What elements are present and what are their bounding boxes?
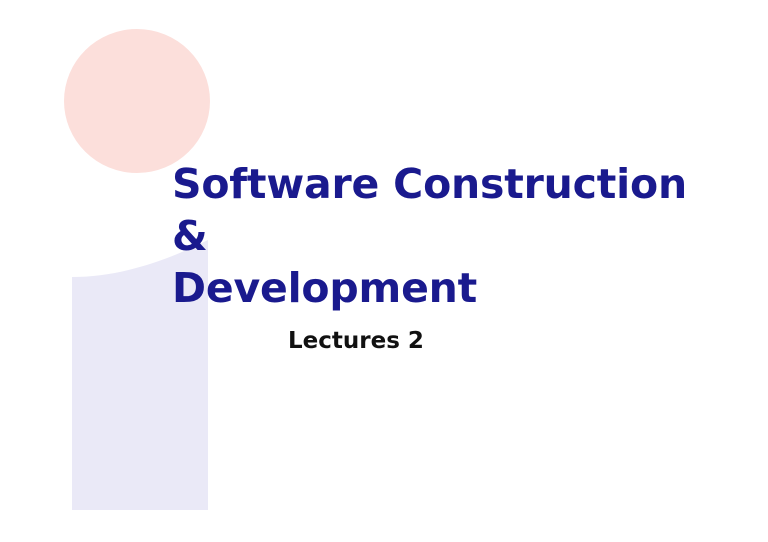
pink-circle-decoration — [64, 29, 210, 173]
title-slide: Software Construction & Development Lect… — [0, 0, 768, 542]
title-block: Software Construction & Development — [172, 158, 732, 314]
slide-title: Software Construction & Development — [172, 158, 732, 314]
slide-subtitle: Lectures 2 — [288, 326, 688, 356]
subtitle-block: Lectures 2 — [288, 326, 688, 356]
